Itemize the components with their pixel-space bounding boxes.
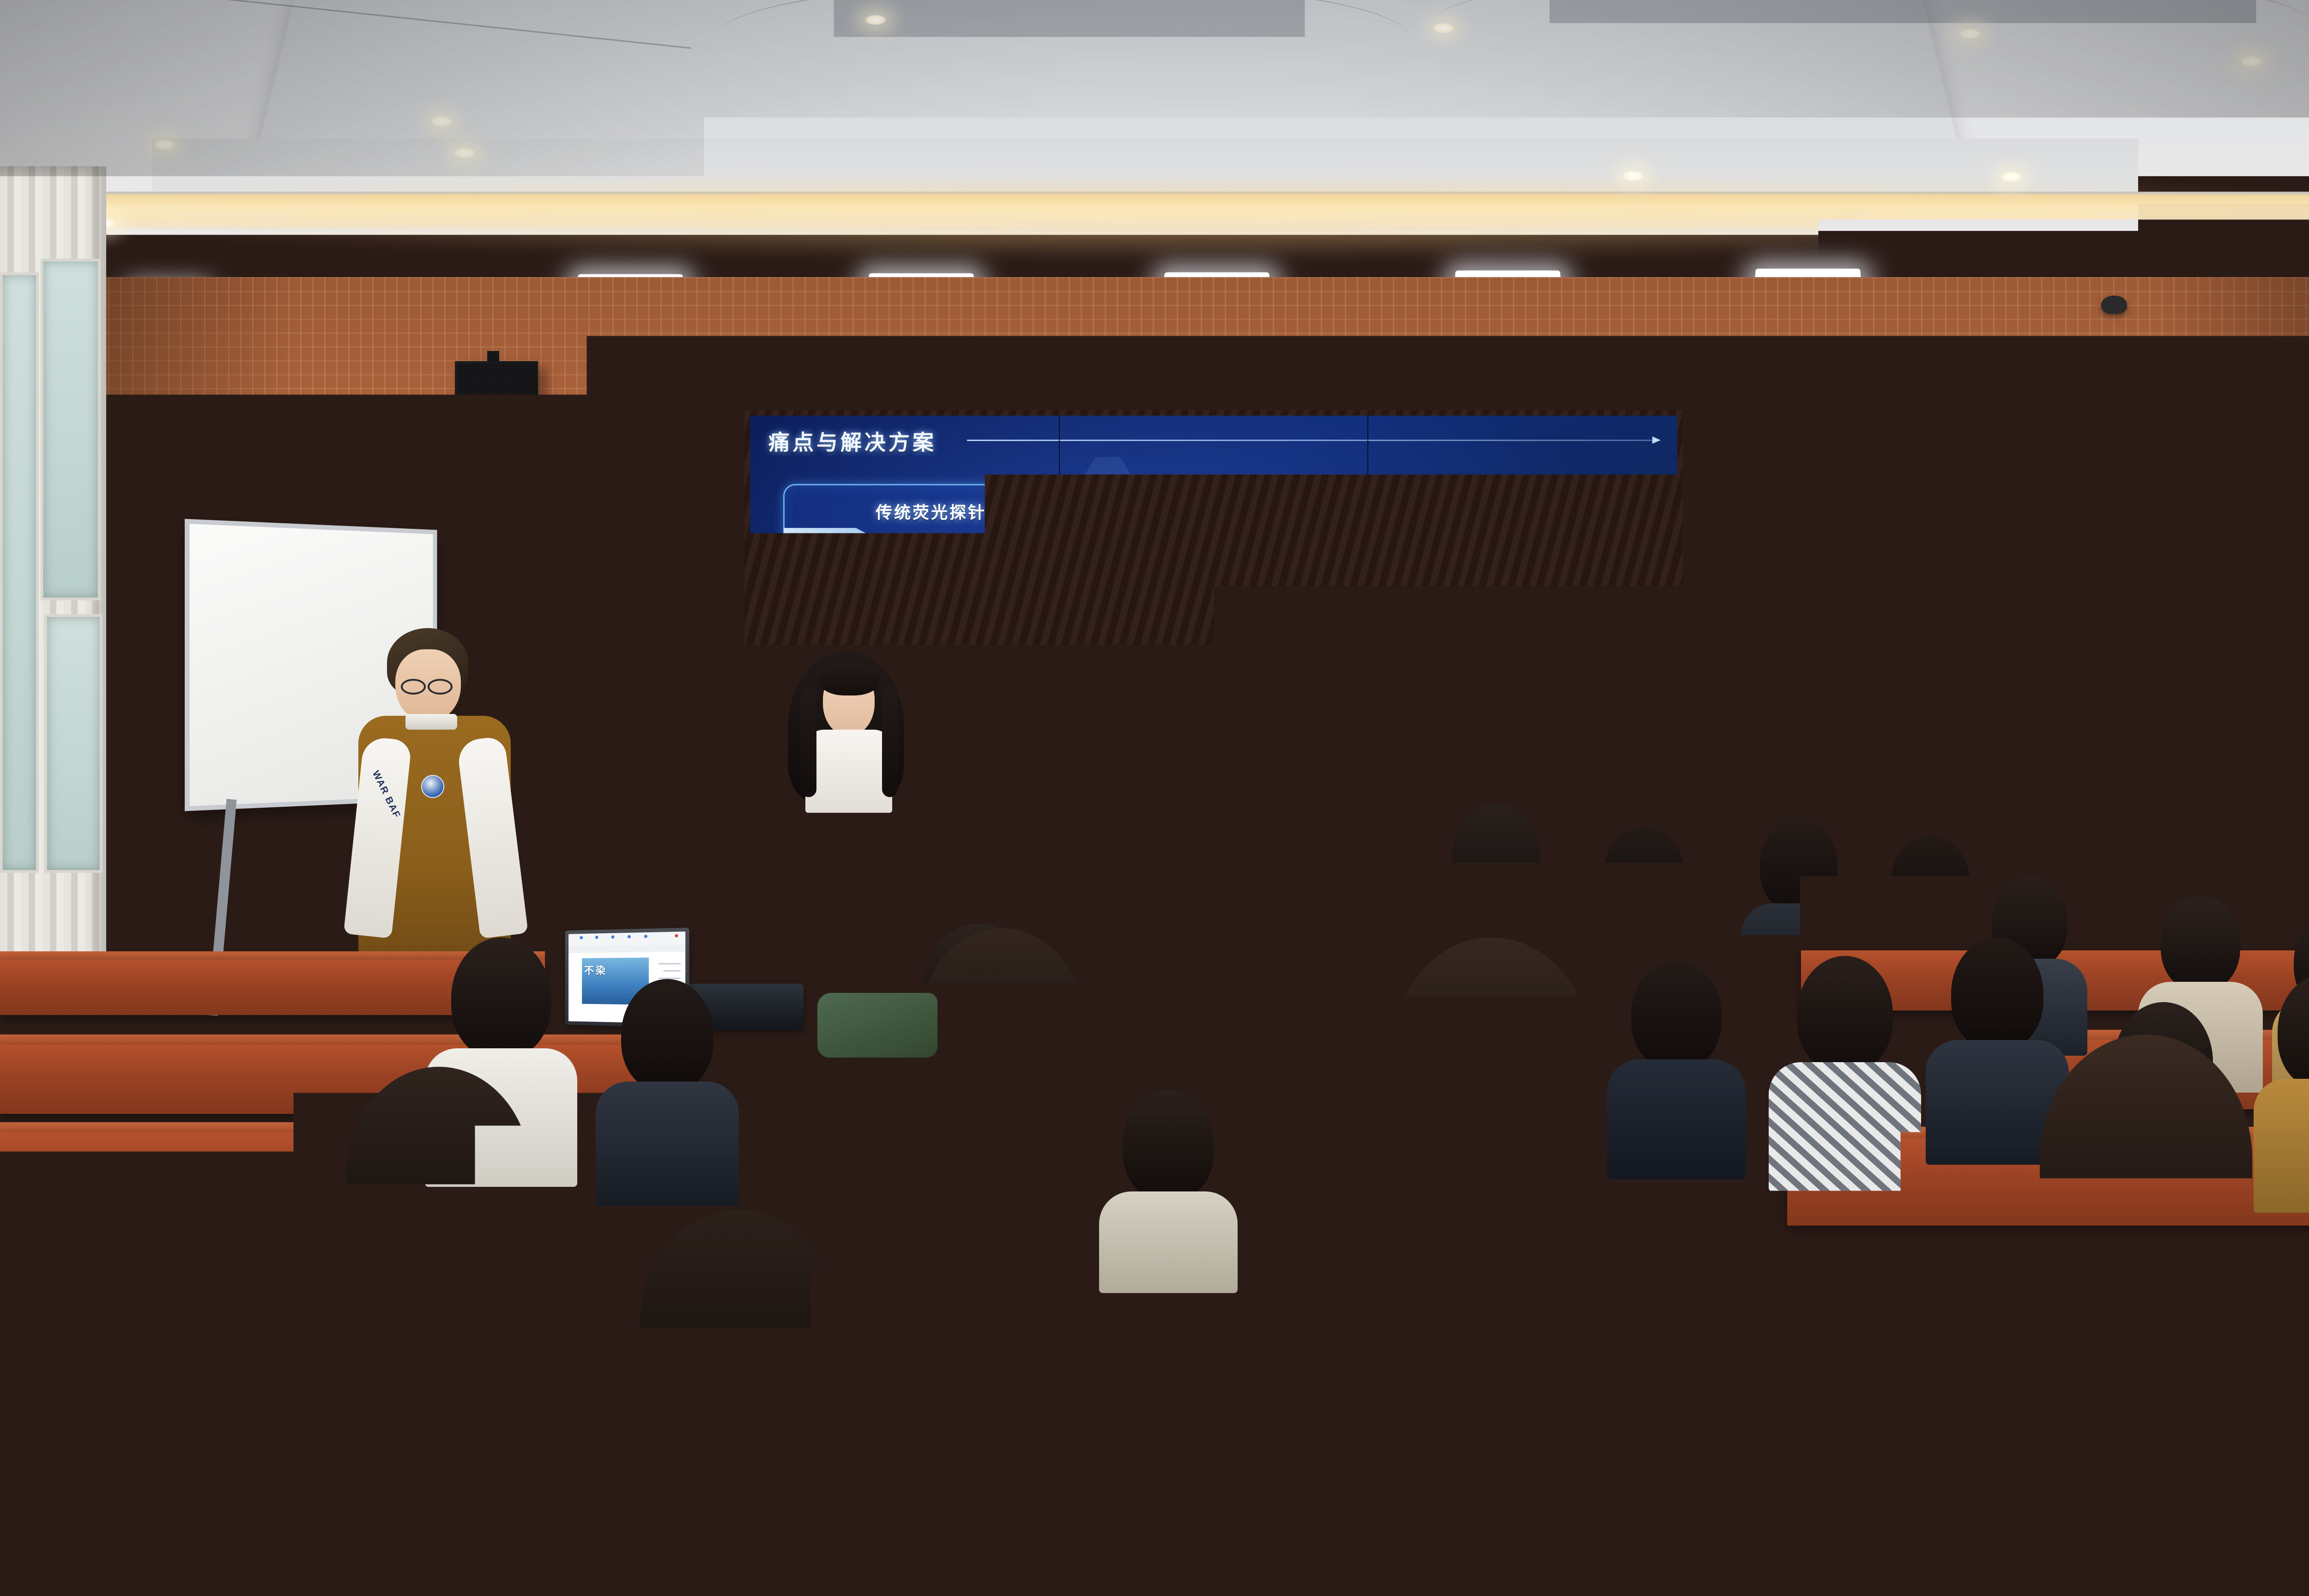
podium-speaker bbox=[775, 647, 923, 813]
audience-head bbox=[14, 1247, 92, 1344]
close-icon[interactable] bbox=[675, 934, 678, 937]
audience-head bbox=[1760, 817, 1838, 913]
board-text-line bbox=[2268, 619, 2309, 621]
poster-text-line bbox=[1941, 653, 1981, 655]
audience-head bbox=[1797, 956, 1893, 1072]
poster-green-block bbox=[2008, 661, 2029, 671]
panel-heading: 延迟荧光探针 bbox=[1350, 499, 1643, 523]
wall-info-board bbox=[2263, 596, 2309, 665]
poster-title-bar bbox=[2007, 641, 2066, 643]
poster-text-line bbox=[2020, 653, 2060, 654]
speaker-brand-badge bbox=[1911, 447, 1935, 452]
audience-shoulders bbox=[0, 1335, 106, 1445]
wall-poster bbox=[1843, 634, 1913, 685]
audience-head bbox=[2161, 896, 2240, 991]
slide-title-rule bbox=[967, 440, 1660, 441]
audience-head bbox=[1123, 1090, 1214, 1201]
podium-emblem: SCHOOL OF PHYSICS AND ELECTRONICS 山东师范大学… bbox=[809, 855, 864, 910]
bottle-label bbox=[1378, 916, 1394, 940]
audience-head bbox=[640, 1210, 838, 1441]
ceiling-downlight bbox=[2240, 55, 2264, 67]
speaker-hair-strand bbox=[882, 686, 898, 797]
figure-trace bbox=[1403, 643, 1447, 678]
poster-footer bbox=[1843, 677, 1912, 685]
audience-shoulders bbox=[125, 1281, 277, 1396]
audience-member bbox=[125, 1173, 277, 1390]
panel-tag-painpoint: 痛点 bbox=[784, 528, 876, 549]
jacket-slogan-line-3: BUT GROVEL TO NONE bbox=[1350, 1416, 1634, 1439]
window-lower bbox=[44, 614, 103, 873]
board-text-line bbox=[2268, 627, 2309, 629]
audience-head bbox=[152, 1173, 250, 1291]
wall-speaker-left bbox=[455, 361, 538, 467]
led-tile-seam-vertical bbox=[1367, 416, 1368, 745]
slide-title: 痛点与解决方案 bbox=[768, 426, 937, 456]
figure-peak bbox=[1440, 678, 1443, 688]
emblem-mark-icon bbox=[822, 871, 851, 894]
emblem-bottom-text: 山东师范大学物理与电子科学学院 bbox=[812, 902, 861, 906]
ceiling-downlight bbox=[864, 14, 888, 26]
board-text-line bbox=[2268, 612, 2309, 614]
ribbon-tab-icon bbox=[611, 935, 615, 938]
audience-shoulders bbox=[1099, 1191, 1238, 1293]
wall-poster bbox=[2001, 632, 2072, 683]
window-far-left bbox=[0, 272, 39, 873]
bottle-cap bbox=[1380, 874, 1393, 883]
presenter-chest-patch bbox=[421, 775, 444, 798]
panel-tag-advantage: 产品优势 bbox=[1349, 528, 1441, 549]
ceiling-downlight bbox=[1621, 170, 1645, 182]
jacket-wordmark: WAR BAF bbox=[1469, 1150, 1747, 1214]
speaker-fringe bbox=[819, 662, 879, 695]
poster-text-line bbox=[1953, 664, 1986, 665]
ceiling-curve-left bbox=[716, 0, 1408, 37]
wall-blue-panel bbox=[2235, 596, 2255, 665]
audience-member-brown-coat bbox=[1898, 1034, 2309, 1596]
speaker-grille bbox=[1885, 353, 1962, 453]
ceiling-downlight bbox=[2000, 171, 2024, 183]
audience-head bbox=[346, 1067, 531, 1284]
jacket-slogan: ACT OF VALOUR SHOW RESPECT TO ALL PEOPLE… bbox=[1350, 1371, 1634, 1439]
poster-footer bbox=[2002, 675, 2071, 683]
figure-peak bbox=[1490, 638, 1493, 648]
poster-text-line bbox=[1874, 669, 1901, 671]
ribbon-tab-icon bbox=[595, 936, 598, 939]
ceiling-downlight bbox=[1958, 28, 1982, 40]
cctv-camera-icon bbox=[2101, 296, 2127, 314]
figure-axis-x bbox=[1390, 688, 1528, 689]
jacket-slogan-line-1: ACT OF VALOUR bbox=[1350, 1371, 1634, 1394]
glasses-icon bbox=[401, 679, 426, 695]
poster-text-line bbox=[1862, 650, 1908, 651]
poster-orange-block bbox=[1927, 647, 1937, 659]
figure-caption-line bbox=[944, 695, 967, 697]
presenter-collar bbox=[405, 714, 457, 730]
audience-member bbox=[1099, 1090, 1238, 1284]
audience-head bbox=[451, 937, 551, 1058]
ceiling-downlight bbox=[152, 139, 176, 151]
cove-light-strip bbox=[55, 194, 2309, 228]
speaker-brand-badge bbox=[484, 458, 508, 463]
wall-poster bbox=[1922, 633, 1992, 684]
wall-speaker-right bbox=[1882, 350, 1965, 456]
slide-inset-figure-right bbox=[1371, 627, 1556, 701]
audience-member-white-tee bbox=[517, 1210, 961, 1596]
microphone-stand bbox=[1288, 767, 1290, 882]
board-text-line bbox=[2268, 605, 2309, 606]
poster-text-line bbox=[1941, 649, 1987, 650]
laptop-panel-line bbox=[663, 970, 680, 972]
poster-green-block bbox=[1928, 662, 1950, 672]
ceiling-curve-right bbox=[1432, 0, 2309, 23]
audience-shoulders: WAR BAF 'T ACT OF VALOUR SHOW RESPECT TO… bbox=[1173, 1145, 1810, 1469]
board-text-line bbox=[2268, 634, 2309, 636]
led-tile-seam-horizontal bbox=[750, 587, 1677, 588]
audience-head bbox=[1951, 937, 2043, 1050]
poster-text-line bbox=[2020, 648, 2067, 649]
poster-green-block bbox=[1849, 663, 1870, 673]
money-bag-icon: 💰 bbox=[1596, 623, 1632, 657]
seat-back[interactable] bbox=[1307, 1522, 1566, 1596]
panel-bullet-2: ②检测需借助仪器，检测流程复杂，仪器十分昂贵 bbox=[800, 592, 985, 631]
emblem-lobe bbox=[835, 873, 851, 894]
audience-head bbox=[2040, 1034, 2252, 1284]
poster-header bbox=[1922, 633, 1992, 641]
audience-shoulders bbox=[517, 1427, 961, 1596]
water-bottle[interactable] bbox=[1378, 882, 1394, 947]
hex-flare bbox=[1082, 457, 1133, 502]
ceiling-downlight bbox=[1432, 22, 1456, 34]
jacket-year-patch: 1872 bbox=[969, 1245, 1035, 1278]
jacket-slogan-line-2: SHOW RESPECT TO ALL PEOPLE bbox=[1350, 1393, 1634, 1416]
ribbon-tab-icon bbox=[628, 935, 631, 938]
figure-axis-y bbox=[1390, 635, 1390, 689]
speaker-grille bbox=[458, 364, 535, 465]
poster-orange-block bbox=[2006, 646, 2016, 658]
panel-heading: 传统荧光探针 bbox=[785, 499, 1077, 523]
speaker-top bbox=[805, 730, 892, 813]
laptop-panel-line bbox=[659, 963, 681, 964]
lecture-hall-photo: 痛点与解决方案 传统荧光探针 痛点 ①研发周期长，研发成本高 ②检测需借助仪器，… bbox=[0, 0, 2309, 1596]
audience-shoulders bbox=[1898, 1265, 2309, 1596]
ribbon-tab-icon bbox=[644, 935, 647, 938]
window-upper bbox=[41, 259, 101, 600]
ribbon-tab-icon bbox=[580, 936, 583, 939]
poster-title-bar bbox=[1849, 643, 1907, 645]
emblem-top-text: SCHOOL OF PHYSICS AND ELECTRONICS bbox=[812, 859, 861, 863]
slide-panel-delayed: 延迟荧光探针 产品优势 ①降低了背景荧光的影响，降低了检出限 ②检测无需借助仪器… bbox=[1348, 484, 1644, 715]
ceiling-downlight bbox=[453, 147, 477, 159]
poster-orange-block bbox=[1847, 648, 1857, 660]
figure-peak bbox=[1414, 672, 1416, 688]
poster-text-line bbox=[1862, 654, 1901, 656]
panel-bullet-1: ①降低了背景荧光的影响，降低了检出限 bbox=[1366, 561, 1550, 600]
poster-text-line bbox=[1874, 665, 1907, 666]
laptop-slide-heading: 不染 bbox=[584, 962, 607, 977]
speaker-hair-strand bbox=[801, 686, 816, 797]
audience-head bbox=[1452, 804, 1540, 910]
audience-head bbox=[919, 928, 1085, 1127]
poster-header bbox=[2002, 632, 2071, 640]
hoodie-wordmark: A bbox=[328, 1404, 383, 1484]
audience-member-graphic-jacket: WAR BAF 'T ACT OF VALOUR SHOW RESPECT TO… bbox=[1173, 937, 1810, 1455]
led-tile-seam-vertical bbox=[1059, 416, 1060, 745]
poster-header bbox=[1843, 634, 1912, 641]
audience-head bbox=[1392, 937, 1591, 1168]
audience-head bbox=[1603, 827, 1685, 924]
poster-title-bar bbox=[1928, 642, 1986, 644]
figure-trace bbox=[1452, 627, 1503, 648]
audience-member bbox=[0, 1247, 106, 1441]
audience-head bbox=[1891, 836, 1970, 931]
panel-bullet-1: ①研发周期长，研发成本高 bbox=[800, 561, 985, 580]
hex-flare bbox=[1267, 476, 1318, 520]
glasses-icon bbox=[428, 679, 453, 695]
figure-trace bbox=[1454, 645, 1507, 676]
transition-arrow-label: 大势所趋 bbox=[1182, 539, 1245, 560]
poster-footer bbox=[1922, 676, 1992, 684]
ceiling-downlight bbox=[429, 115, 453, 127]
hoodie-wordmark: A bbox=[425, 1399, 480, 1479]
